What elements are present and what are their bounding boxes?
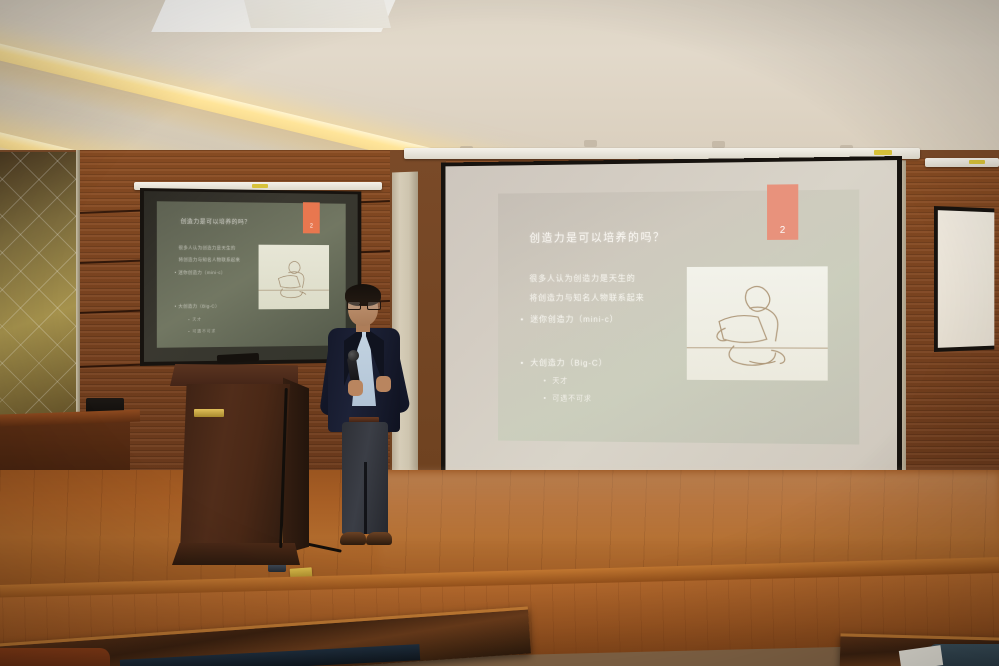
- left-slide-bullet-2-label: 大创造力（Big-C）: [178, 304, 219, 309]
- slide-bullet-big-c-label: 大创造力（Big-C）: [530, 358, 607, 368]
- presenter-hand-holding-mic: [348, 380, 363, 396]
- left-slide-bullet-2: • 大创造力（Big-C）: [175, 304, 220, 310]
- reading-person-line-icon: [687, 266, 828, 381]
- slide-number-badge: 2: [767, 185, 798, 240]
- housing-badge: [252, 184, 268, 188]
- main-screen-surface: 2 创造力是可以培养的吗？ 很多人认为创造力是天生的 将创造力与知名人物联系起来…: [445, 160, 897, 477]
- left-slide-line-2: 将创造力与知名人物联系起来: [179, 257, 241, 263]
- left-slide-sub-1: • 天才: [188, 317, 202, 323]
- slide-bullet-big-c: • 大创造力（Big-C）: [521, 357, 608, 369]
- housing-badge: [874, 150, 892, 155]
- right-side-screen: [934, 206, 994, 352]
- slide-title: 创造力是可以培养的吗？: [529, 229, 665, 246]
- main-projection-screen: 2 创造力是可以培养的吗？ 很多人认为创造力是天生的 将创造力与知名人物联系起来…: [441, 156, 902, 482]
- slide-line-1: 很多人认为创造力是天生的: [529, 272, 635, 284]
- ceiling-vent: [712, 141, 725, 148]
- slide-sub-genius: • 天才: [543, 375, 568, 386]
- ceiling-vent: [584, 140, 597, 147]
- slide-bullet-mini-c-label: 迷你创造力（mini-c）: [530, 314, 618, 324]
- podium-top: [170, 364, 298, 386]
- right-screen-housing: [925, 158, 999, 167]
- slide-sub-genius-label: 天才: [552, 376, 568, 385]
- left-slide-sub-1-label: 天才: [192, 317, 202, 322]
- presenter: [316, 276, 412, 566]
- slide-sub-rare: • 可遇不可求: [543, 393, 591, 404]
- right-screen-surface: [938, 210, 994, 348]
- slide-sub-rare-label: 可遇不可求: [552, 394, 591, 403]
- housing-badge: [969, 160, 985, 164]
- glasses-lens-left: [347, 301, 361, 310]
- glasses-lens-right: [367, 301, 381, 310]
- slide-line-2: 将创造力与知名人物联系起来: [529, 292, 644, 304]
- ceiling-skylight-panel-inner: [239, 0, 391, 28]
- presenter-leg-seam: [364, 462, 367, 534]
- left-slide-bullet-1: • 迷你创造力（mini-c）: [175, 270, 226, 276]
- left-slide-title: 创造力是可以培养的吗？: [180, 216, 250, 226]
- podium-name-plaque: [194, 409, 224, 417]
- slide-bullet-mini-c: • 迷你创造力（mini-c）: [521, 313, 619, 325]
- left-slide-sub-2: • 可遇不可求: [188, 328, 216, 334]
- glasses-bridge: [359, 304, 367, 305]
- audience-chair-wood[interactable]: [0, 648, 110, 666]
- left-slide-number-badge: 2: [303, 202, 320, 233]
- presenter-right-hand: [376, 376, 391, 392]
- glasses-icon: [347, 301, 379, 308]
- presenter-shoe-right: [366, 532, 392, 545]
- slide-content-area: 2 创造力是可以培养的吗？ 很多人认为创造力是天生的 将创造力与知名人物联系起来…: [498, 189, 860, 445]
- presenter-shoe-left: [340, 532, 366, 545]
- left-slide-bullet-1-label: 迷你创造力（mini-c）: [178, 270, 225, 275]
- left-slide-line-1: 很多人认为创造力是天生的: [179, 246, 236, 252]
- slide-illustration: [687, 266, 828, 381]
- left-slide-sub-2-label: 可遇不可求: [192, 328, 216, 333]
- lecture-hall-photo: 创造力是可以培养的吗？ 很多人认为创造力是天生的 将创造力与知名人物联系起来 •…: [0, 0, 999, 666]
